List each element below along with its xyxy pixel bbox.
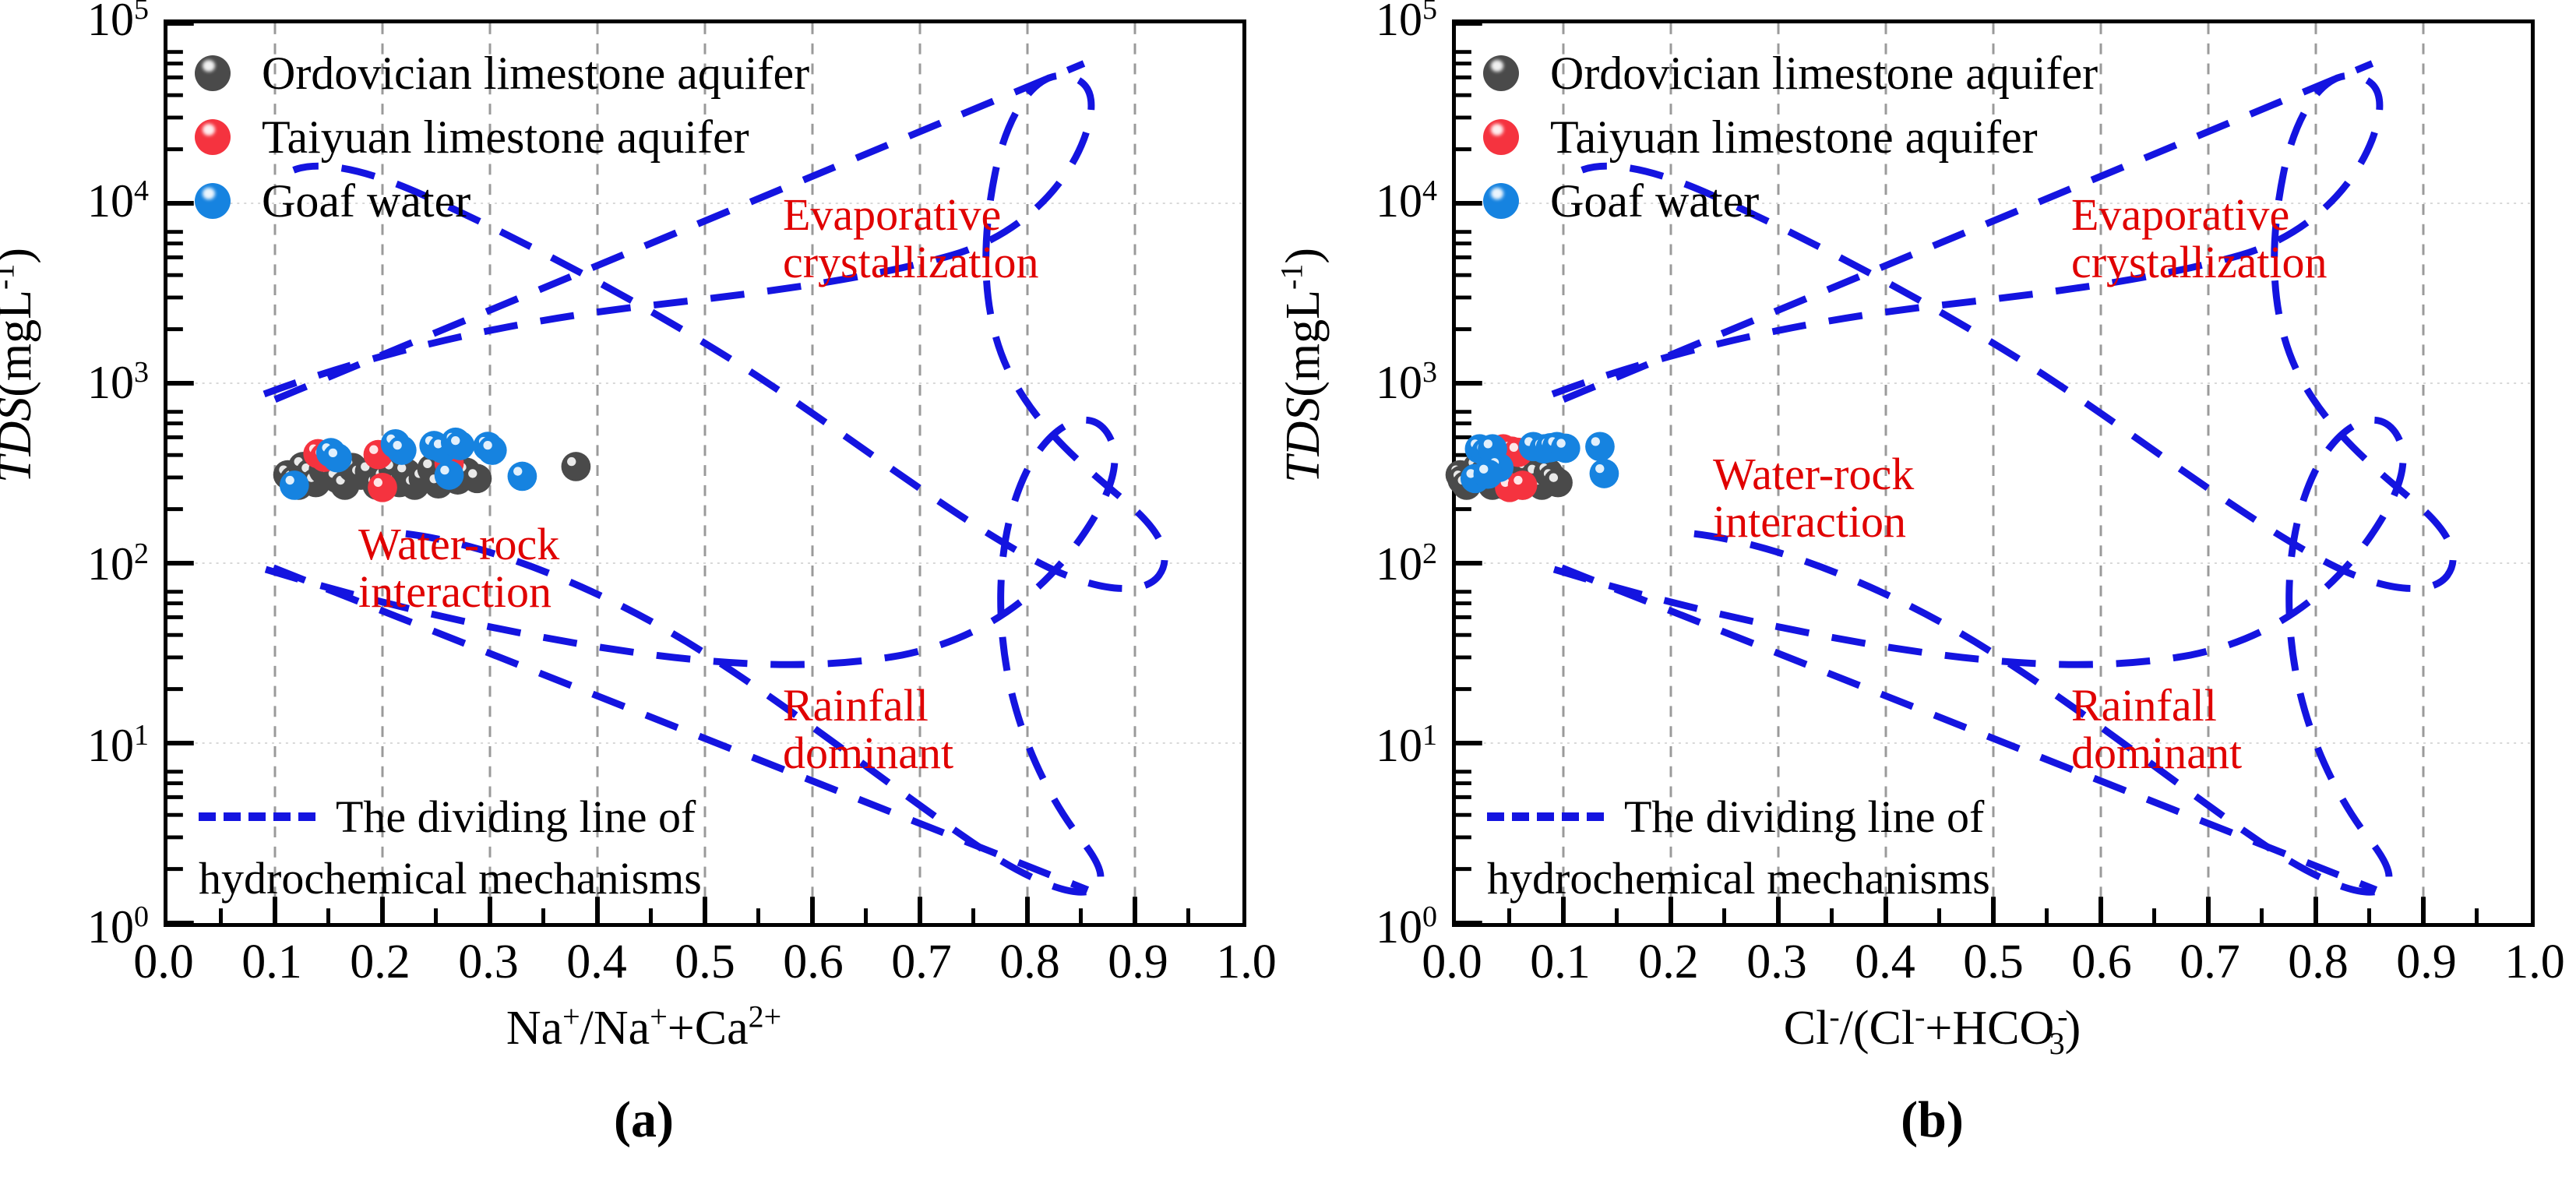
x-tick-label: 0.3 (458, 935, 519, 990)
x-axis-title: Na+/Na++Ca2+ (0, 1001, 1288, 1056)
data-point (477, 435, 507, 465)
divider-legend-b: The dividing line of hydrochemical mecha… (1487, 791, 2266, 904)
x-tick-label: 0.6 (783, 935, 844, 990)
x-tick-label: 0.4 (566, 935, 627, 990)
x-tick-label: 0.1 (1530, 935, 1591, 990)
marker-highlight (513, 467, 522, 475)
panel-caption-a: (a) (0, 1091, 1288, 1150)
marker-highlight (451, 436, 460, 445)
x-tick-label: 1.0 (1216, 935, 1277, 990)
x-tick-label: 0.9 (2396, 935, 2457, 990)
y-tick-label: 101 (87, 722, 149, 769)
plot-area-a: Ordovician limestone aquifer Taiyuan lim… (164, 19, 1246, 927)
y-tick-label: 101 (1376, 722, 1437, 769)
annotation-rainfall-a: Rainfall dominant (783, 682, 953, 777)
legend-row-ordovician: Ordovician limestone aquifer (1483, 41, 2098, 105)
x-tick-label: 0.8 (999, 935, 1060, 990)
panel-caption-b: (b) (1288, 1091, 2576, 1150)
legend-label-ordovician: Ordovician limestone aquifer (262, 47, 809, 100)
x-tick-label: 0.0 (133, 935, 194, 990)
x-axis-title: Cl-/(Cl-+HCO-3) (1288, 1001, 2576, 1056)
marker-highlight (483, 441, 492, 449)
marker-highlight (440, 466, 449, 474)
y-major-ticks (167, 23, 194, 923)
data-point (368, 473, 397, 502)
legend-label-taiyuan: Taiyuan limestone aquifer (1550, 111, 2038, 164)
data-point (435, 460, 464, 490)
marker-highlight (329, 449, 337, 457)
gibbs-diagram-figure: 100 101 102 103 104 105 TDS(mgL-1) 0.0 0… (0, 0, 2576, 1191)
marker-highlight (1549, 474, 1558, 482)
divider-legend-line1: The dividing line of (336, 791, 696, 843)
marker-highlight (286, 476, 294, 485)
data-point (1585, 432, 1615, 461)
y-tick-label: 102 (1376, 541, 1437, 587)
y-tick-label: 103 (1376, 359, 1437, 406)
data-point (508, 462, 537, 492)
marker-highlight (1591, 437, 1600, 446)
x-tick-label: 0.7 (2180, 935, 2240, 990)
legend-label-taiyuan: Taiyuan limestone aquifer (262, 111, 749, 164)
y-tick-label: 104 (87, 178, 149, 224)
divider-legend-line2: hydrochemical mechanisms (199, 852, 978, 904)
legend-label-goaf: Goaf water (262, 174, 470, 228)
x-tick-label: 0.9 (1108, 935, 1168, 990)
data-point (562, 452, 591, 481)
marker-highlight (1514, 476, 1522, 485)
legend-row-goaf: Goaf water (195, 169, 809, 233)
legend-row-taiyuan: Taiyuan limestone aquifer (1483, 105, 2098, 169)
marker-highlight (567, 457, 576, 466)
data-point (1508, 470, 1538, 500)
x-tick-label: 1.0 (2504, 935, 2565, 990)
y-tick-label: 103 (87, 359, 149, 406)
data-point (446, 431, 475, 460)
annotation-waterrock-a: Water-rock interaction (358, 520, 559, 616)
annotation-evaporative-b: Evaporative crystallization (2071, 191, 2328, 287)
dashed-line-sample-icon (199, 812, 315, 821)
plot-area-b: Ordovician limestone aquifer Taiyuan lim… (1452, 19, 2535, 927)
marker-highlight (1510, 443, 1518, 452)
marker-highlight (369, 446, 378, 454)
marker-highlight (1595, 464, 1604, 473)
x-tick-label: 0.6 (2071, 935, 2132, 990)
marker-highlight (468, 469, 477, 477)
x-tick-label: 0.8 (2288, 935, 2349, 990)
sphere-marker-red-icon (1483, 119, 1519, 155)
x-tick-label: 0.1 (241, 935, 302, 990)
x-tick-label: 0.2 (350, 935, 411, 990)
y-tick-label: 104 (1376, 178, 1437, 224)
marker-highlight (1556, 439, 1565, 447)
data-point (280, 470, 309, 500)
y-axis-title: TDS(mgL-1) (1276, 248, 1331, 483)
x-tick-label: 0.3 (1746, 935, 1807, 990)
data-point (1590, 459, 1619, 488)
divider-legend-line1: The dividing line of (1624, 791, 1984, 843)
legend-label-ordovician: Ordovician limestone aquifer (1550, 47, 2098, 100)
data-point (322, 443, 352, 473)
x-tick-label: 0.5 (1963, 935, 2024, 990)
y-axis-title: TDS(mgL-1) (0, 248, 43, 483)
panel-b: 100 101 102 103 104 105 TDS(mgL-1) 0.0 0… (1288, 0, 2576, 1191)
annotation-rainfall-b: Rainfall dominant (2071, 682, 2242, 777)
dashed-line-sample-icon (1487, 812, 1604, 821)
marker-highlight (374, 478, 382, 487)
sphere-marker-gray-icon (195, 55, 231, 91)
y-minor-ticks (167, 52, 183, 869)
x-tick-label: 0.7 (891, 935, 952, 990)
legend-label-goaf: Goaf water (1550, 174, 1759, 228)
legend-row-goaf: Goaf water (1483, 169, 2098, 233)
y-tick-label: 105 (87, 0, 149, 43)
legend-b: Ordovician limestone aquifer Taiyuan lim… (1483, 41, 2098, 233)
annotation-waterrock-b: Water-rock interaction (1713, 450, 1914, 546)
divider-legend-line2: hydrochemical mechanisms (1487, 852, 2266, 904)
y-tick-label: 102 (87, 541, 149, 587)
sphere-marker-blue-icon (1483, 183, 1519, 219)
data-point (1543, 468, 1573, 498)
sphere-marker-red-icon (195, 119, 231, 155)
x-tick-label: 0.4 (1855, 935, 1915, 990)
marker-highlight (423, 460, 432, 468)
sphere-marker-gray-icon (1483, 55, 1519, 91)
data-point (1551, 434, 1580, 463)
y-tick-label: 105 (1376, 0, 1437, 43)
legend-row-ordovician: Ordovician limestone aquifer (195, 41, 809, 105)
data-point (387, 435, 417, 465)
marker-highlight (1484, 439, 1492, 448)
divider-legend-a: The dividing line of hydrochemical mecha… (199, 791, 978, 904)
x-tick-label: 0.0 (1422, 935, 1482, 990)
marker-highlight (1479, 465, 1488, 474)
sphere-marker-blue-icon (195, 183, 231, 219)
marker-highlight (393, 441, 402, 449)
x-tick-label: 0.2 (1638, 935, 1699, 990)
legend-row-taiyuan: Taiyuan limestone aquifer (195, 105, 809, 169)
annotation-evaporative-a: Evaporative crystallization (783, 191, 1039, 287)
legend-a: Ordovician limestone aquifer Taiyuan lim… (195, 41, 809, 233)
data-point (463, 464, 492, 494)
data-point (1474, 460, 1503, 489)
x-tick-label: 0.5 (675, 935, 735, 990)
panel-a: 100 101 102 103 104 105 TDS(mgL-1) 0.0 0… (0, 0, 1288, 1191)
